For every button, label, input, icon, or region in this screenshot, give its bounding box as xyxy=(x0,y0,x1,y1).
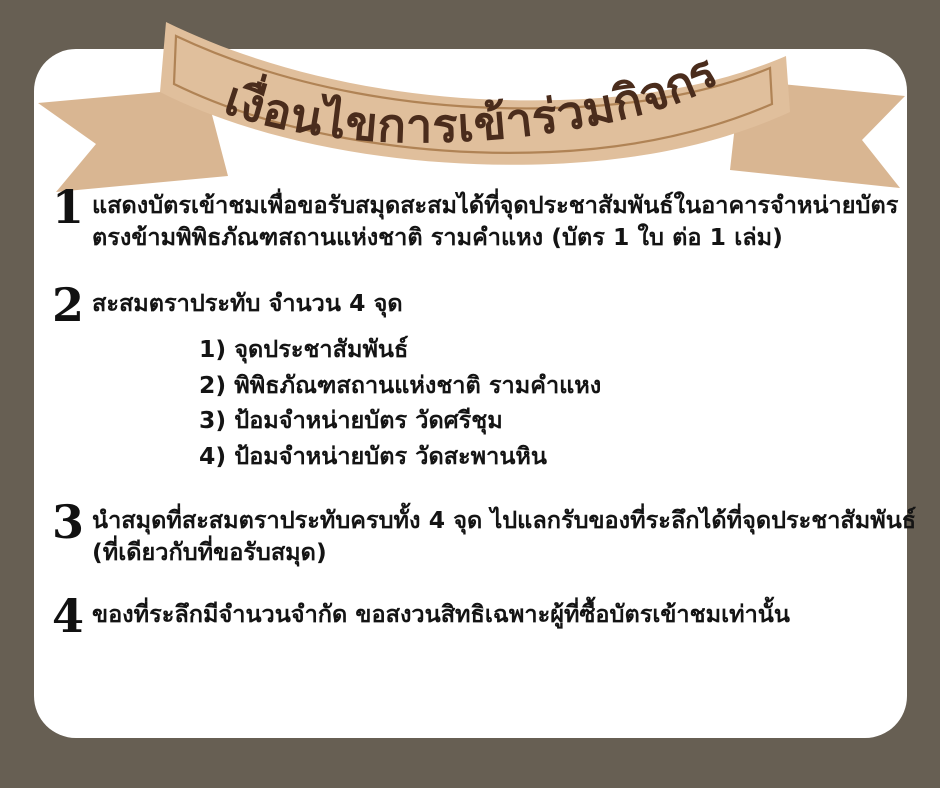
item-line: แสดงบัตรเข้าชมเพื่อขอรับสมุดสะสมได้ที่จุ… xyxy=(92,190,907,222)
list-item: 3 นำสมุดที่สะสมตราประทับครบทั้ง 4 จุด ไป… xyxy=(34,505,907,569)
item-line: ตรงข้ามพิพิธภัณฑสถานแห่งชาติ รามคำแหง (บ… xyxy=(92,222,907,254)
item-body: สะสมตราประทับ จำนวน 4 จุด 1) จุดประชาสัม… xyxy=(92,288,907,475)
list-item: 1 แสดงบัตรเข้าชมเพื่อขอรับสมุดสะสมได้ที่… xyxy=(34,190,907,254)
poster-root: เงื่อนไขการเข้าร่วมกิจกรรม 1 แสดงบัตรเข้… xyxy=(0,0,940,788)
item-number: 3 xyxy=(52,501,92,545)
item-body: นำสมุดที่สะสมตราประทับครบทั้ง 4 จุด ไปแล… xyxy=(92,505,916,569)
item-line: สะสมตราประทับ จำนวน 4 จุด xyxy=(92,288,907,320)
item-number: 1 xyxy=(52,186,92,230)
item-body: ของที่ระลึกมีจำนวนจำกัด ขอสงวนสิทธิเฉพาะ… xyxy=(92,599,907,631)
list-item: 4 ของที่ระลึกมีจำนวนจำกัด ขอสงวนสิทธิเฉพ… xyxy=(34,599,907,639)
stamp-point-sublist: 1) จุดประชาสัมพันธ์ 2) พิพิธภัณฑสถานแห่ง… xyxy=(92,332,907,475)
sub-list-item: 4) ป้อมจำหน่ายบัตร วัดสะพานหิน xyxy=(92,439,907,475)
spacer xyxy=(34,254,907,288)
conditions-list: 1 แสดงบัตรเข้าชมเพื่อขอรับสมุดสะสมได้ที่… xyxy=(34,190,907,638)
spacer xyxy=(34,475,907,505)
item-number: 4 xyxy=(52,595,92,639)
sub-list-item: 2) พิพิธภัณฑสถานแห่งชาติ รามคำแหง xyxy=(92,368,907,404)
item-line: (ที่เดียวกับที่ขอรับสมุด) xyxy=(92,537,916,569)
spacer xyxy=(34,569,907,599)
item-number: 2 xyxy=(52,284,92,328)
item-body: แสดงบัตรเข้าชมเพื่อขอรับสมุดสะสมได้ที่จุ… xyxy=(92,190,907,254)
sub-list-item: 3) ป้อมจำหน่ายบัตร วัดศรีชุม xyxy=(92,403,907,439)
sub-list-item: 1) จุดประชาสัมพันธ์ xyxy=(92,332,907,368)
ribbon-title-wrap: เงื่อนไขการเข้าร่วมกิจกรรม xyxy=(0,0,940,200)
item-line: ของที่ระลึกมีจำนวนจำกัด ขอสงวนสิทธิเฉพาะ… xyxy=(92,599,907,631)
banner-title: เงื่อนไขการเข้าร่วมกิจกรรม xyxy=(0,0,727,154)
item-line: นำสมุดที่สะสมตราประทับครบทั้ง 4 จุด ไปแล… xyxy=(92,505,916,537)
list-item: 2 สะสมตราประทับ จำนวน 4 จุด 1) จุดประชาส… xyxy=(34,288,907,475)
